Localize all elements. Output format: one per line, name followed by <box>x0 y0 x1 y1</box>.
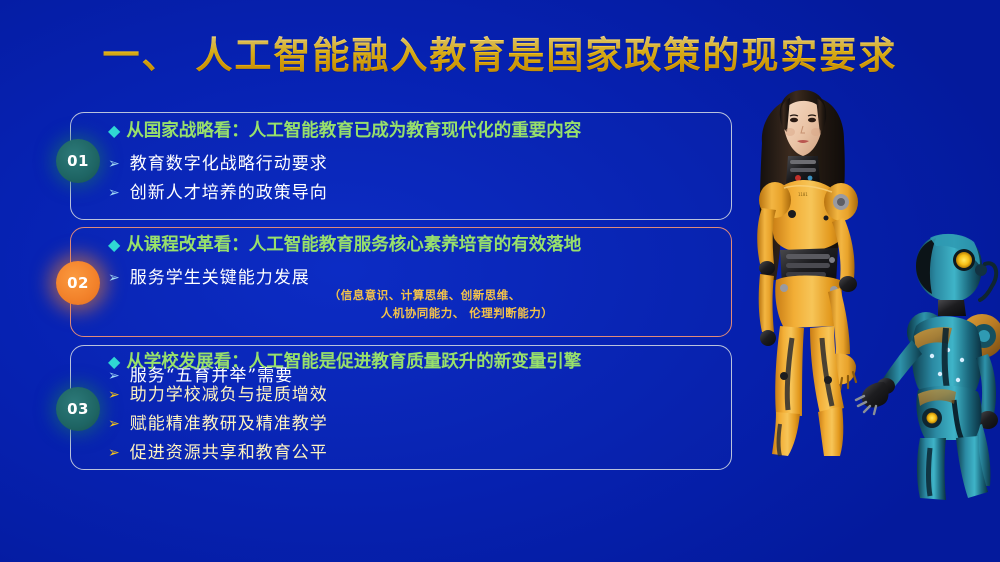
block-heading-text-03: 从学校发展看：人工智能是促进教育质量跃升的新变量引擎 <box>126 351 581 375</box>
block-body-01: ◆ 从国家战略看：人工智能教育已成为教育现代化的重要内容 ➢ 教育数字化战略行动… <box>108 120 728 202</box>
list-item: ➢ 促进资源共享和教育公平 <box>108 445 728 462</box>
list-item-text: 促进资源共享和教育公平 <box>130 445 328 462</box>
step-badge-01: 01 <box>56 139 100 183</box>
block-heading-03: ◆ 从学校发展看：人工智能是促进教育质量跃升的新变量引擎 <box>108 351 728 375</box>
block-heading-text-01: 从国家战略看：人工智能教育已成为教育现代化的重要内容 <box>126 120 581 144</box>
block-body-03: ◆ 从学校发展看：人工智能是促进教育质量跃升的新变量引擎 ➢ 助力学校减负与提质… <box>108 351 728 462</box>
list-item-text: 赋能精准教研及精准教学 <box>130 416 328 433</box>
diamond-icon: ◆ <box>108 354 120 370</box>
teal-robot <box>856 234 1000 500</box>
two-humanoid-robots-photo: 1101 <box>740 88 1000 518</box>
list-item: ➢ 助力学校减负与提质增效 <box>108 387 728 404</box>
step-badge-03: 03 <box>56 387 100 431</box>
list-item: ➢ 赋能精准教研及精准教学 <box>108 416 728 433</box>
diamond-icon: ◆ <box>108 237 120 253</box>
list-item: ➢ 创新人才培养的政策导向 <box>108 185 728 202</box>
list-item-text: 教育数字化战略行动要求 <box>130 156 328 173</box>
arrow-icon: ➢ <box>108 446 121 460</box>
page-title: 一、 人工智能融入教育是国家政策的现实要求 <box>0 34 1000 77</box>
list-item-annotation: （信息意识、计算思维、创新思维、 人机协同能力、 伦理判断能力） <box>329 270 554 341</box>
arrow-icon: ➢ <box>108 388 121 402</box>
arrow-icon: ➢ <box>108 157 121 171</box>
arrow-icon: ➢ <box>108 417 121 431</box>
annotation-line-2: 人机协同能力、 伦理判断能力） <box>381 305 554 323</box>
block-heading-02: ◆ 从课程改革看：人工智能教育服务核心素养培育的有效落地 <box>108 234 728 258</box>
list-item-text: 创新人才培养的政策导向 <box>130 185 328 202</box>
block-heading-01: ◆ 从国家战略看：人工智能教育已成为教育现代化的重要内容 <box>108 120 728 144</box>
svg-text:1101: 1101 <box>798 192 808 197</box>
block-heading-text-02: 从课程改革看：人工智能教育服务核心素养培育的有效落地 <box>126 234 581 258</box>
arrow-icon: ➢ <box>108 271 121 285</box>
step-badge-02: 02 <box>56 261 100 305</box>
list-item-text: 服务学生关键能力发展 <box>130 270 310 287</box>
annotation-line-1: （信息意识、计算思维、创新思维、 <box>329 288 521 302</box>
list-item: ➢ 教育数字化战略行动要求 <box>108 156 728 173</box>
diamond-icon: ◆ <box>108 123 120 139</box>
slide-canvas: 一、 人工智能融入教育是国家政策的现实要求 01 ◆ 从国家战略看：人工智能教育… <box>0 0 1000 562</box>
list-item: ➢ 服务学生关键能力发展 （信息意识、计算思维、创新思维、 人机协同能力、 伦理… <box>108 270 728 342</box>
list-item-text: 助力学校减负与提质增效 <box>130 387 328 404</box>
yellow-android-with-human-face: 1101 <box>757 90 858 456</box>
arrow-icon: ➢ <box>108 186 121 200</box>
